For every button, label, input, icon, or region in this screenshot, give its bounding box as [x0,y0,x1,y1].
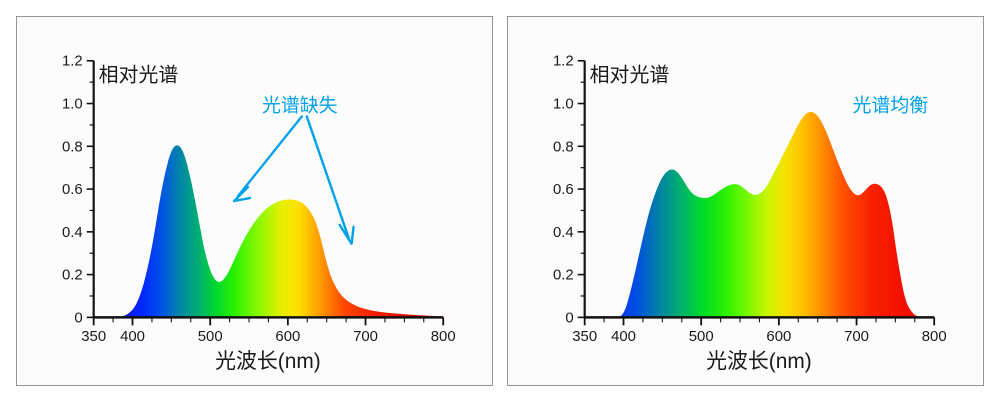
x-tick-label-350: 350 [81,328,106,345]
x-tick-label-350: 350 [572,328,597,345]
x-tick-label-600: 600 [275,328,300,345]
x-tick-label-500: 500 [689,328,714,345]
annotation-arrow-left [234,116,302,201]
y-tick-label-0: 0 [74,309,82,326]
y-tick-label-0: 0 [565,309,573,326]
y-tick-label-0-8: 0.8 [553,138,574,155]
x-axis-title: 光波长(nm) [706,350,812,373]
spectrum-comparison-figure: 相对光谱 [0,0,1000,401]
y-tick-label-0-8: 0.8 [62,138,83,155]
annotation-label-balanced-spectrum: 光谱均衡 [853,94,929,116]
panel-left-spectrum: 相对光谱 [16,16,493,386]
y-tick-label-0-4: 0.4 [553,224,574,241]
y-tick-label-1-2: 1.2 [553,53,574,70]
panel-right-spectrum: 相对光谱 0 0.2 [507,16,984,386]
y-tick-label-0-2: 0.2 [62,267,83,284]
left-chart-svg: 相对光谱 [17,17,492,385]
spectrum-area-left [94,145,444,317]
y-tick-label-1-0: 1.0 [553,96,574,113]
x-tick-label-800: 800 [922,328,947,345]
x-tick-label-700: 700 [844,328,869,345]
x-tick-label-500: 500 [198,328,223,345]
y-tick-label-0-2: 0.2 [553,267,574,284]
spectrum-area-right [585,112,935,317]
plot-title: 相对光谱 [99,64,179,87]
y-tick-label-0-4: 0.4 [62,224,83,241]
y-tick-label-0-6: 0.6 [62,181,83,198]
x-tick-label-700: 700 [353,328,378,345]
x-tick-label-600: 600 [766,328,791,345]
x-tick-label-400: 400 [611,328,636,345]
annotation-label-missing-spectrum: 光谱缺失 [262,94,338,116]
y-tick-label-0-6: 0.6 [553,181,574,198]
y-tick-label-1-0: 1.0 [62,96,83,113]
right-chart-svg: 相对光谱 0 0.2 [508,17,983,385]
plot-title: 相对光谱 [590,64,670,87]
y-tick-label-1-2: 1.2 [62,53,83,70]
x-tick-label-400: 400 [120,328,145,345]
x-axis-title: 光波长(nm) [215,350,321,373]
x-tick-label-800: 800 [431,328,456,345]
